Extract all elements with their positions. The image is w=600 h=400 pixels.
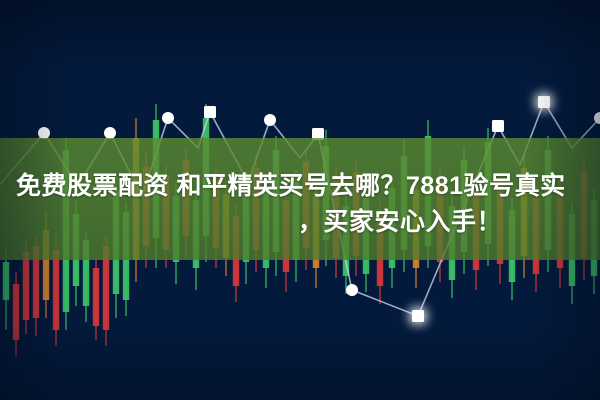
headline-text: 免费股票配资 和平精英买号去哪？7881验号真实 ，买家安心入手！ [10, 168, 590, 240]
stock-banner-image: 免费股票配资 和平精英买号去哪？7881验号真实 ，买家安心入手！ [0, 0, 600, 400]
headline-line-1: 免费股票配资 和平精英买号去哪？7881验号真实 [10, 168, 590, 204]
headline-line-2: ，买家安心入手！ [10, 204, 590, 240]
